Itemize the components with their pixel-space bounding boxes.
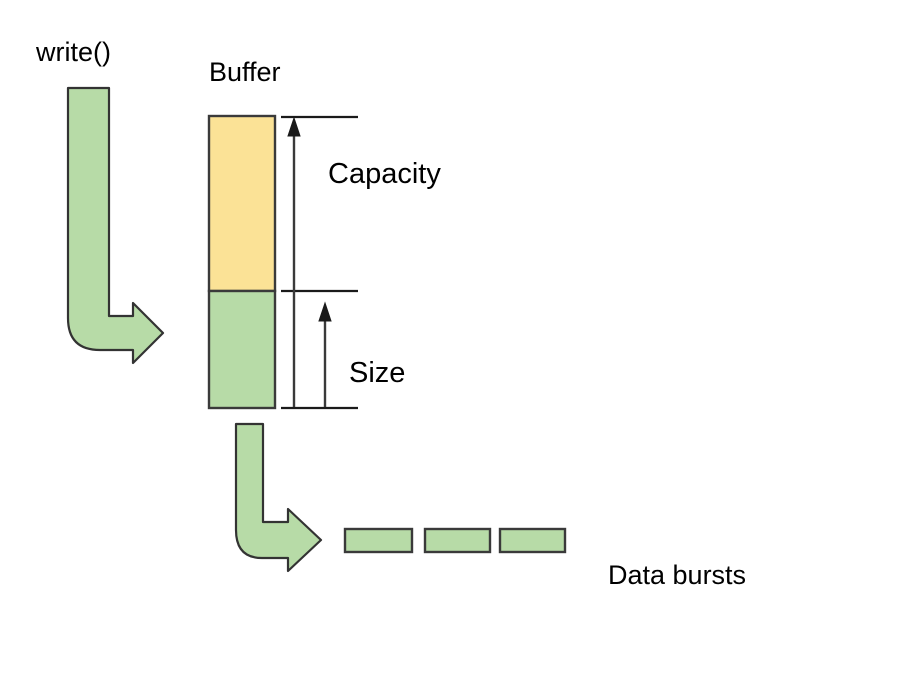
buffer-label: Buffer [209, 59, 281, 86]
data-burst-3 [500, 529, 565, 552]
data-burst-2 [425, 529, 490, 552]
consumer-note-line-1: Data bursts [608, 557, 746, 594]
diagram-canvas: write() Buffer Capacity Size Data bursts… [0, 0, 922, 674]
data-burst-1 [345, 529, 412, 552]
device-outbound-arrow [236, 424, 321, 571]
diagram-graphics [0, 0, 922, 674]
consumer-note-line-2: consumed [608, 668, 746, 674]
consumer-note: Data bursts consumed by device [608, 484, 746, 674]
capacity-label: Capacity [328, 160, 441, 189]
buffer-free-segment [209, 116, 275, 291]
size-label: Size [349, 359, 405, 388]
size-arrow-head [319, 303, 331, 321]
write-call-label: write() [36, 39, 111, 66]
capacity-arrow-head [288, 118, 300, 136]
buffer-used-segment [209, 291, 275, 408]
write-inbound-arrow [68, 88, 163, 363]
